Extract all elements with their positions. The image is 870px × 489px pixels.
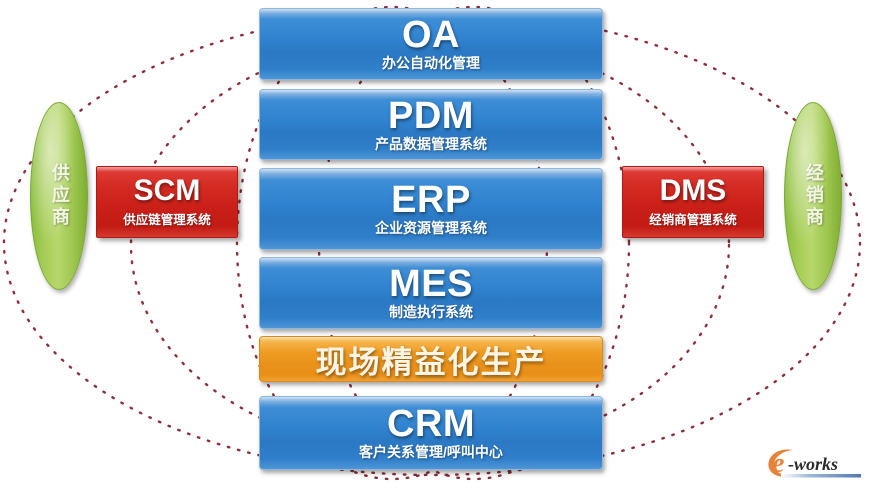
mes-acronym: MES (389, 265, 473, 304)
pdm-box[interactable]: PDM 产品数据管理系统 (259, 89, 603, 160)
crm-subtitle: 客户关系管理/呼叫中心 (359, 445, 503, 460)
scm-subtitle: 供应链管理系统 (123, 209, 211, 228)
oa-subtitle: 办公自动化管理 (382, 56, 480, 71)
pdm-acronym: PDM (388, 97, 474, 136)
eworks-wordmark: -works (788, 454, 838, 474)
dealer-ellipse[interactable]: 经销商 (784, 102, 842, 290)
mes-subtitle: 制造执行系统 (389, 305, 473, 320)
oa-acronym: OA (402, 16, 460, 55)
scm-acronym: SCM (134, 176, 201, 206)
diagram-canvas: 供应商 SCM 供应链管理系统 OA 办公自动化管理 PDM 产品数据管理系统 … (0, 0, 870, 489)
dms-acronym: DMS (660, 176, 727, 206)
eworks-underbar (781, 474, 861, 478)
scm-box[interactable]: SCM 供应链管理系统 (96, 166, 238, 238)
erp-acronym: ERP (391, 181, 471, 220)
dms-box[interactable]: DMS 经销商管理系统 (622, 166, 764, 238)
erp-box[interactable]: ERP 企业资源管理系统 (259, 168, 603, 250)
dealer-label: 经销商 (801, 163, 825, 229)
oa-box[interactable]: OA 办公自动化管理 (259, 8, 603, 80)
mes-box[interactable]: MES 制造执行系统 (259, 257, 603, 329)
crm-acronym: CRM (387, 405, 475, 444)
supplier-label: 供应商 (47, 163, 71, 229)
erp-subtitle: 企业资源管理系统 (375, 221, 487, 236)
lean-production-label: 现场精益化生产 (316, 337, 547, 382)
supplier-ellipse[interactable]: 供应商 (30, 102, 88, 290)
lean-production-box[interactable]: 现场精益化生产 (259, 336, 603, 382)
dms-subtitle: 经销商管理系统 (649, 209, 737, 228)
pdm-subtitle: 产品数据管理系统 (375, 137, 487, 152)
eworks-logo: e -works (764, 439, 864, 485)
crm-box[interactable]: CRM 客户关系管理/呼叫中心 (259, 396, 603, 470)
